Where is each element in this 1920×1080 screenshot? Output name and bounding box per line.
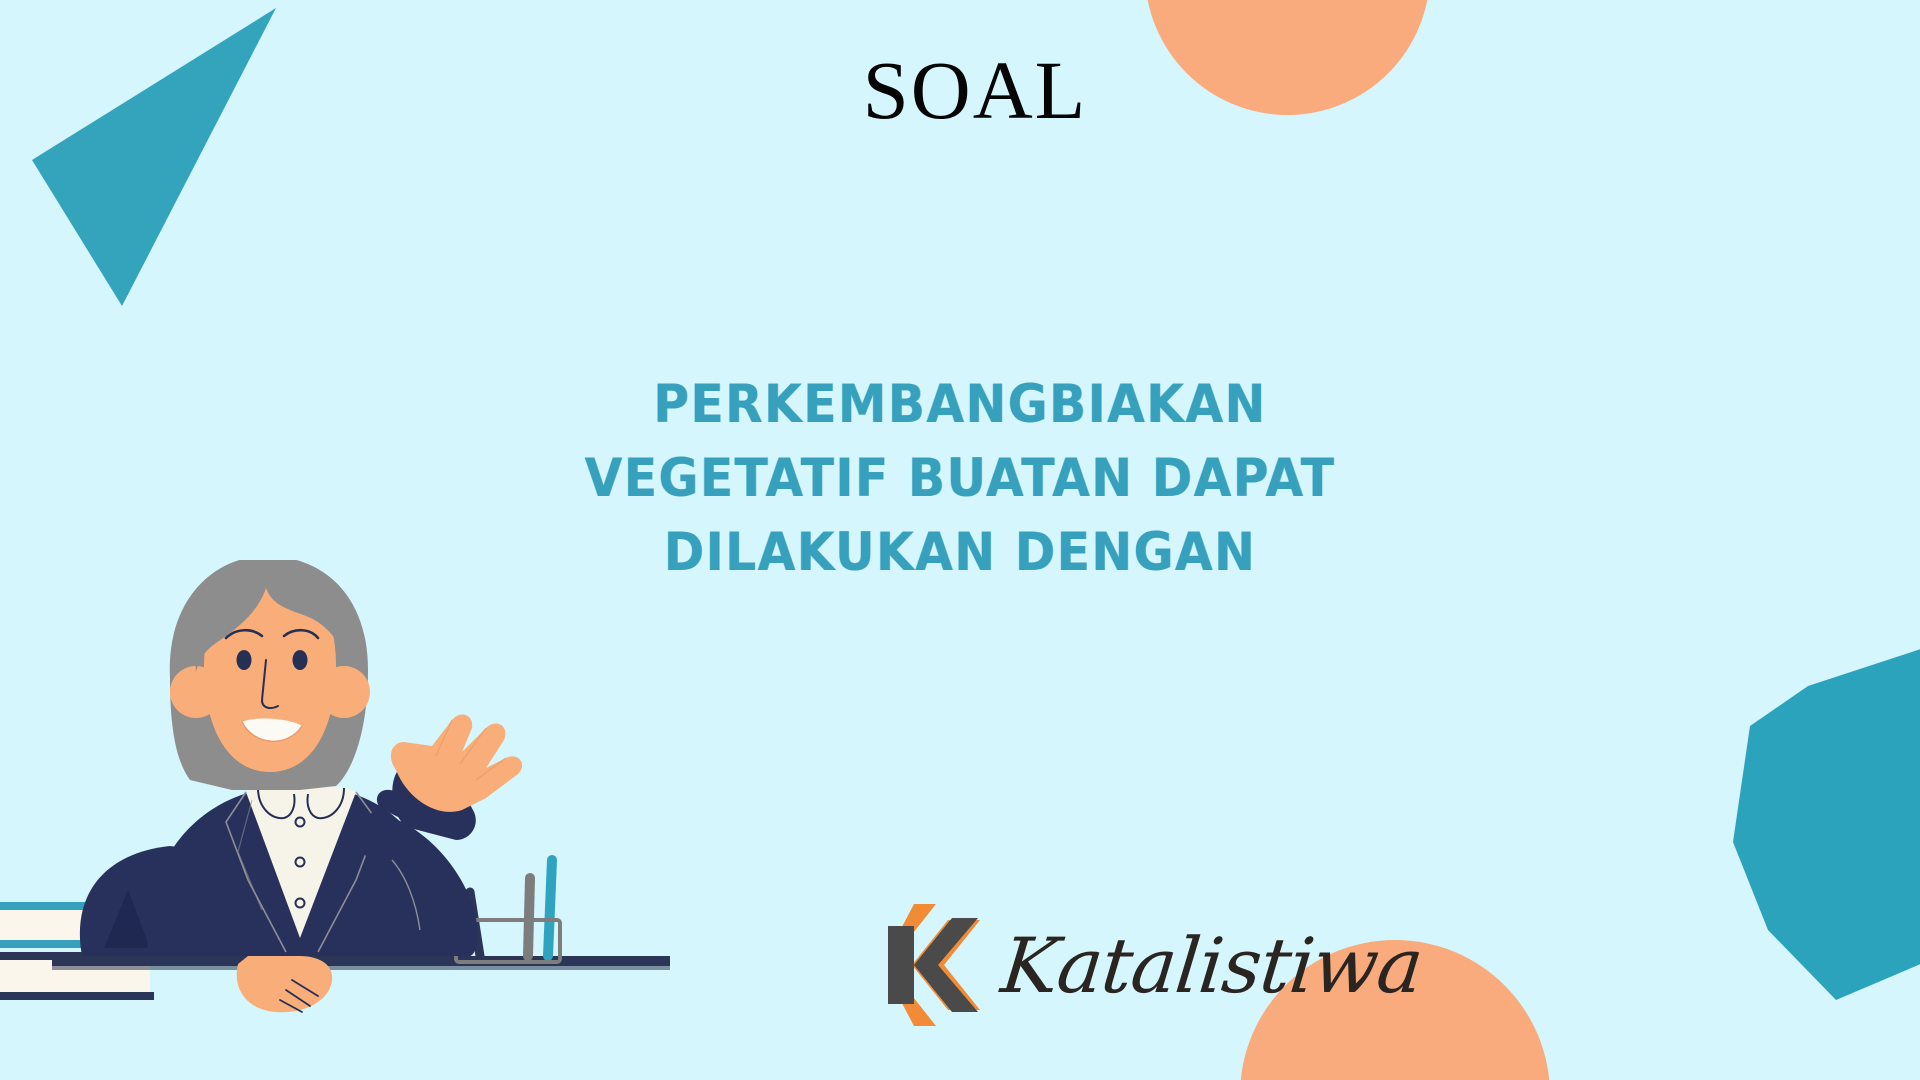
question-line-1: PERKEMBANGBIAKAN [491, 368, 1429, 442]
question-text-block: PERKEMBANGBIAKAN VEGETATIF BUATAN DAPAT … [450, 368, 1470, 590]
katalistiwa-wordmark: Katalistiwa [997, 914, 1428, 1018]
resting-hand [237, 956, 332, 1012]
question-line-2: VEGETATIF BUATAN DAPAT [491, 442, 1429, 516]
katalistiwa-logo: Katalistiwa [880, 900, 1360, 1030]
slide-title: SOAL [0, 20, 1920, 138]
slide-title-text: SOAL [833, 20, 1088, 138]
desk [52, 956, 670, 970]
slide-canvas: SOAL PERKEMBANGBIAKAN VEGETATIF BUATAN D… [0, 0, 1920, 1080]
katalistiwa-k-mark [880, 902, 1000, 1028]
polygon-decoration-right [1690, 630, 1920, 1000]
teacher-illustration [0, 560, 720, 1080]
